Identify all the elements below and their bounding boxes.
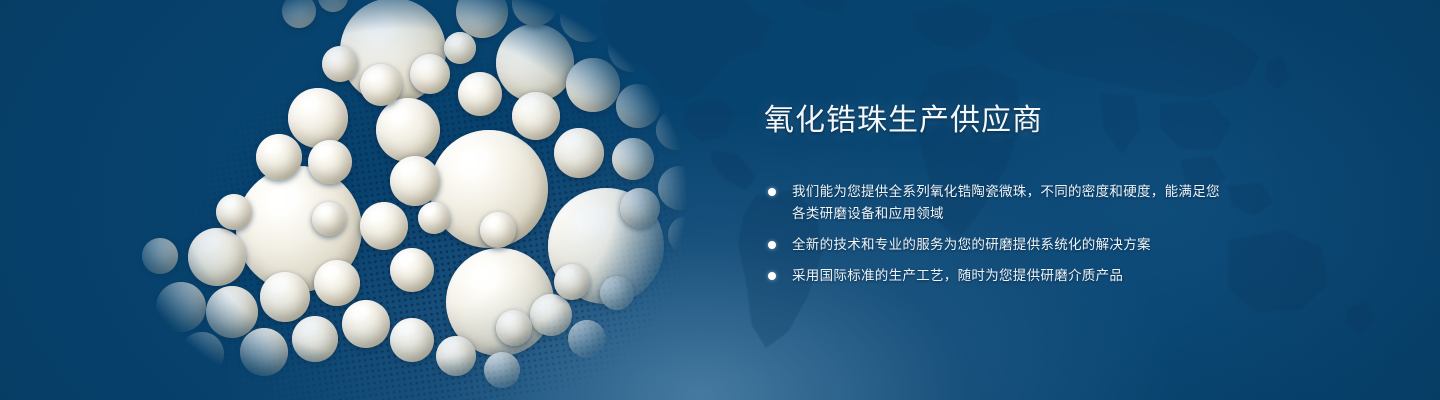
list-item-text: 全新的技术和专业的服务为您的研磨提供系统化的解决方案 (792, 237, 1151, 252)
list-item-text: 采用国际标准的生产工艺，随时为您提供研磨介质产品 (792, 268, 1123, 283)
list-item-text: 我们能为您提供全系列氧化锆陶瓷微珠，不同的密度和硬度，能满足您各类研磨设备和应用… (792, 184, 1220, 221)
background-vignette (0, 0, 1440, 400)
feature-list: 我们能为您提供全系列氧化锆陶瓷微珠，不同的密度和硬度，能满足您各类研磨设备和应用… (764, 181, 1224, 287)
hero-banner: 氧化锆珠生产供应商 我们能为您提供全系列氧化锆陶瓷微珠，不同的密度和硬度，能满足… (0, 0, 1440, 400)
list-item: 采用国际标准的生产工艺，随时为您提供研磨介质产品 (764, 265, 1224, 287)
banner-copy: 氧化锆珠生产供应商 我们能为您提供全系列氧化锆陶瓷微珠，不同的密度和硬度，能满足… (764, 104, 1224, 296)
list-item: 全新的技术和专业的服务为您的研磨提供系统化的解决方案 (764, 234, 1224, 256)
page-title: 氧化锆珠生产供应商 (764, 104, 1224, 137)
list-item: 我们能为您提供全系列氧化锆陶瓷微珠，不同的密度和硬度，能满足您各类研磨设备和应用… (764, 181, 1224, 225)
bullet-dot-icon (768, 272, 776, 280)
bullet-dot-icon (768, 241, 776, 249)
bullet-dot-icon (768, 188, 776, 196)
